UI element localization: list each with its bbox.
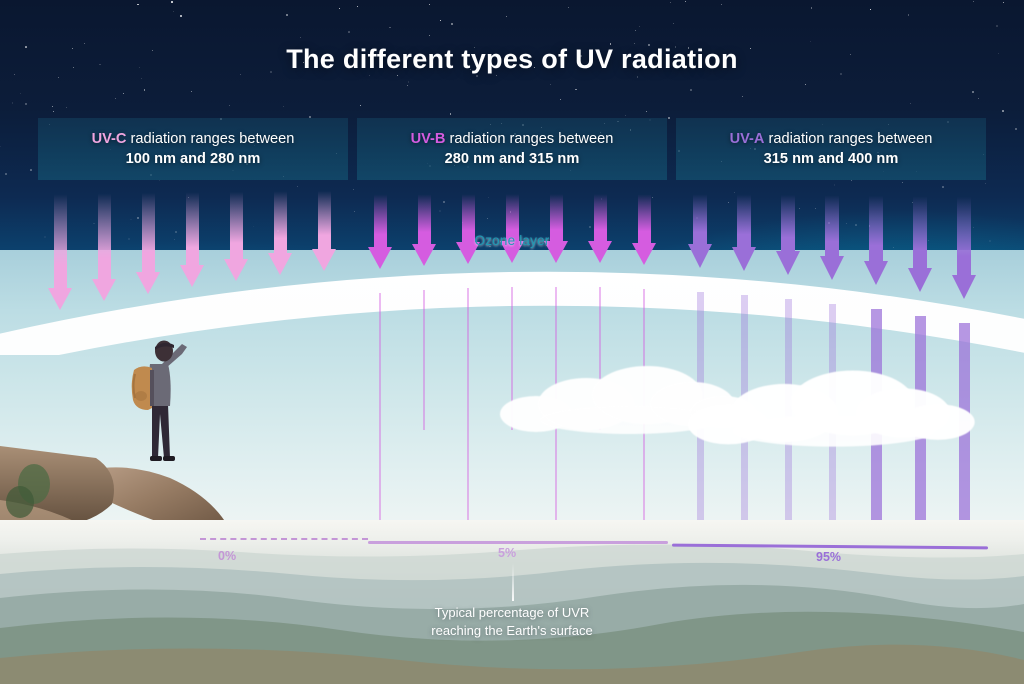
- info-box-uva-line1: UV-A radiation ranges between: [730, 129, 933, 149]
- caption-line-2: reaching the Earth's surface: [0, 622, 1024, 640]
- uvb-trace-3: [467, 288, 469, 532]
- info-box-uvb-line1: UV-B radiation ranges between: [411, 129, 614, 149]
- page-title: The different types of UV radiation: [0, 44, 1024, 75]
- uva-tag: UV-A: [730, 131, 765, 147]
- uva-line1-rest: radiation ranges between: [764, 131, 932, 147]
- caption-line-1: Typical percentage of UVR: [0, 604, 1024, 622]
- ozone-layer-label: Ozone layer: [0, 233, 1024, 248]
- uvc-line1-rest: radiation ranges between: [126, 131, 294, 147]
- uvb-trace-2: [423, 290, 425, 430]
- uvc-pct-label: 0%: [218, 549, 236, 563]
- info-box-uvc-line1: UV-C radiation ranges between: [92, 129, 295, 149]
- info-box-uva[interactable]: UV-A radiation ranges between 315 nm and…: [676, 118, 986, 180]
- info-box-uvc-line2: 100 nm and 280 nm: [126, 149, 261, 169]
- info-box-uvb[interactable]: UV-B radiation ranges between 280 nm and…: [357, 118, 667, 180]
- infographic-canvas: Ozone layer: [0, 0, 1024, 684]
- cloud-puff: [733, 415, 935, 446]
- uva-pct-label: 95%: [816, 550, 841, 564]
- caption-leader-line: [512, 563, 514, 601]
- uvb-pct-label: 5%: [498, 546, 516, 560]
- uvc-tag: UV-C: [92, 131, 127, 147]
- uvb-tag: UV-B: [411, 131, 446, 147]
- info-box-uva-line2: 315 nm and 400 nm: [764, 149, 899, 169]
- info-box-uvb-line2: 280 nm and 315 nm: [445, 149, 580, 169]
- info-box-uvc[interactable]: UV-C radiation ranges between 100 nm and…: [38, 118, 348, 180]
- uvb-line1-rest: radiation ranges between: [445, 131, 613, 147]
- uvb-pct-line: [368, 541, 668, 544]
- uvc-pct-line: [200, 538, 368, 540]
- uvb-trace-1: [379, 293, 381, 532]
- caption-block: Typical percentage of UVR reaching the E…: [0, 604, 1024, 640]
